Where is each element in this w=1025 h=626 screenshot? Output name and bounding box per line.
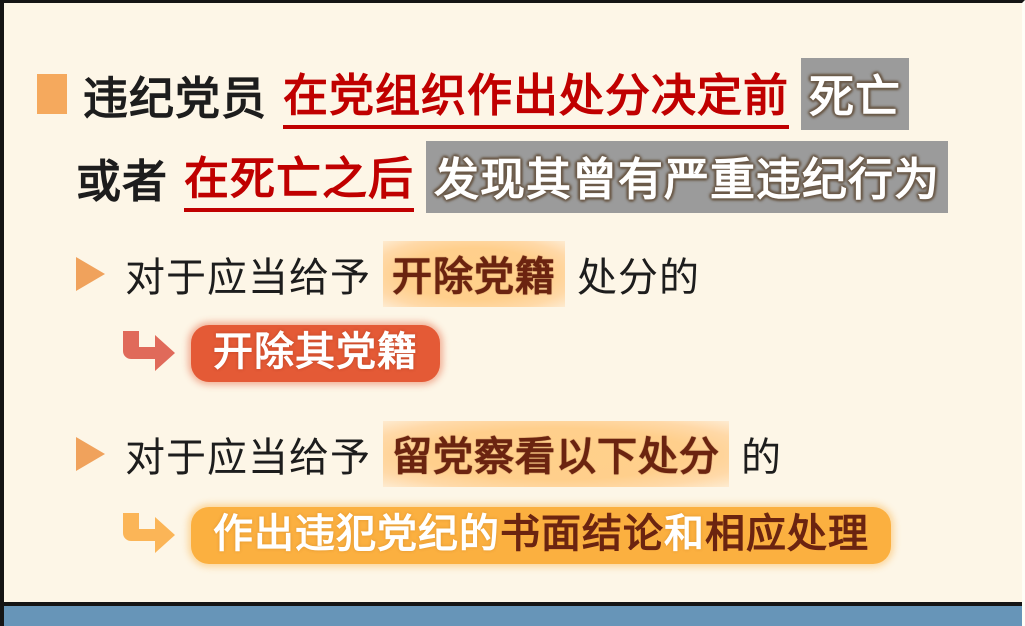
text-line-1: 违纪党员 在党组织作出处分决定前 死亡: [37, 63, 909, 125]
line6-segment-0: 作出违犯党纪的: [213, 512, 500, 556]
line1-gray-boxed-text: 死亡: [801, 58, 909, 130]
line2-plain-text: 或者: [76, 145, 168, 210]
line6-pill: 作出违犯党纪的书面结论和相应处理: [191, 507, 891, 564]
text-line-3: 对于应当给予 开除党籍 处分的: [76, 246, 700, 302]
square-bullet-icon: [37, 74, 67, 114]
footer-bar: [0, 602, 1025, 626]
line6-segment-3: 相应处理: [705, 512, 869, 556]
line6-segment-2: 和: [664, 512, 705, 556]
text-line-4: 开除其党籍: [119, 323, 440, 383]
text-line-6: 作出违犯党纪的书面结论和相应处理: [119, 503, 891, 567]
line3-text-after: 处分的: [577, 245, 700, 303]
slide-content: 违纪党员 在党组织作出处分决定前 死亡 或者 在死亡之后 发现其曾有严重违纪行为…: [4, 3, 1022, 602]
line6-segment-1: 书面结论: [500, 512, 664, 556]
line5-text-after: 的: [741, 425, 782, 483]
line2-gray-boxed-text: 发现其曾有严重违纪行为: [426, 141, 948, 213]
down-right-arrow-icon: [119, 329, 177, 377]
line4-pill: 开除其党籍: [191, 325, 440, 382]
triangle-bullet-icon: [76, 437, 105, 471]
slide-canvas: 违纪党员 在党组织作出处分决定前 死亡 或者 在死亡之后 发现其曾有严重违纪行为…: [0, 0, 1025, 626]
text-line-2: 或者 在死亡之后 发现其曾有严重违纪行为: [76, 146, 948, 208]
text-line-5: 对于应当给予 留党察看以下处分 的: [76, 426, 782, 482]
line2-red-underlined-text: 在死亡之后: [184, 142, 414, 212]
down-right-arrow-icon: [119, 511, 177, 559]
triangle-bullet-icon: [76, 257, 105, 291]
line5-text-before: 对于应当给予: [125, 425, 371, 483]
line3-text-before: 对于应当给予: [125, 245, 371, 303]
line3-highlight-text: 开除党籍: [383, 241, 565, 307]
line1-red-underlined-text: 在党组织作出处分决定前: [283, 59, 789, 129]
line5-highlight-text: 留党察看以下处分: [383, 421, 729, 487]
line1-plain-text: 违纪党员: [83, 62, 267, 127]
